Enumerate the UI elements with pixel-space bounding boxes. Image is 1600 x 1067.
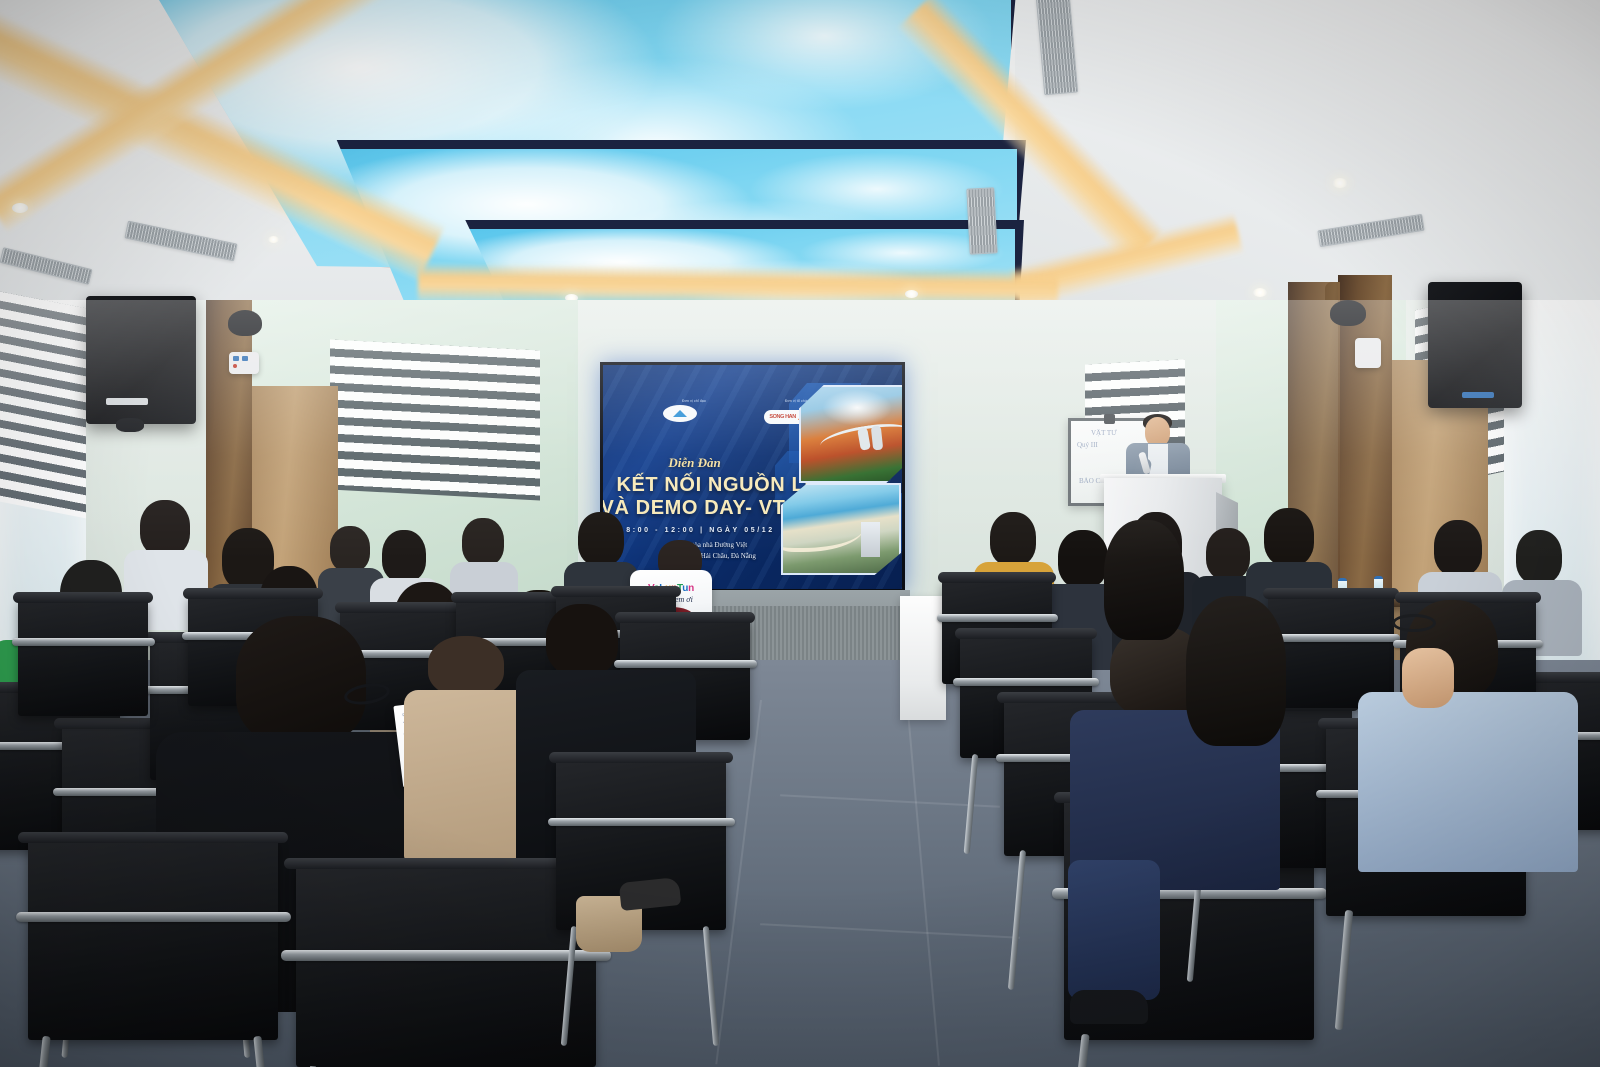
conference-room-photo: VẬT TƯ Quý III BÁO CÁO KPI Đơn vị chỉ đạ… [0, 0, 1600, 1067]
speaker-badge-left [106, 398, 148, 405]
blue-shirt-hand [1402, 648, 1454, 708]
downlight-4 [1332, 178, 1348, 188]
blinds-left [0, 292, 86, 519]
navy-suit-shoe [1070, 990, 1148, 1024]
camera-dome-left [228, 310, 262, 336]
camera-dome-right [1330, 300, 1366, 326]
beach-buildings [861, 522, 881, 557]
downlight-3 [1253, 288, 1267, 297]
eyeglasses-icon-right [1392, 614, 1436, 632]
wall-speaker-right [1428, 282, 1522, 408]
led-photo-danang-beach [781, 483, 901, 575]
mountain-icon [673, 410, 687, 417]
ac-vent-mid [966, 187, 997, 254]
led-photo-golden-bridge [799, 385, 905, 483]
led-display-screen: Đơn vị chỉ đạo Đơn vị tổ chức SONG HAN V… [600, 362, 905, 592]
navy-suit-legs [1068, 860, 1160, 1000]
whiteboard-clip [1104, 414, 1115, 424]
chair-fl-4 [18, 600, 148, 716]
sponsor-group-directing: Đơn vị chỉ đạo [663, 399, 725, 422]
whiteboard-note-0: VẬT TƯ [1091, 429, 1117, 437]
downlight-7 [268, 236, 279, 243]
projector-left [229, 352, 259, 374]
logo-directing [663, 405, 697, 422]
speaker-badge-right [1462, 392, 1494, 398]
whiteboard-note-1: Quý III [1077, 441, 1098, 449]
sponsor-label-directing: Đơn vị chỉ đạo [663, 399, 725, 403]
beach-shoreline [781, 517, 864, 552]
blinds-center-left [330, 339, 540, 500]
logo-song-han-text: SONG HAN [769, 414, 795, 420]
downlight-6 [12, 203, 28, 213]
chair-fl-11 [296, 866, 596, 1067]
chair-fl-10 [28, 840, 278, 1040]
camera-small-left [116, 418, 144, 432]
outlet-box-right [1355, 338, 1381, 368]
downlight-2 [905, 290, 918, 298]
